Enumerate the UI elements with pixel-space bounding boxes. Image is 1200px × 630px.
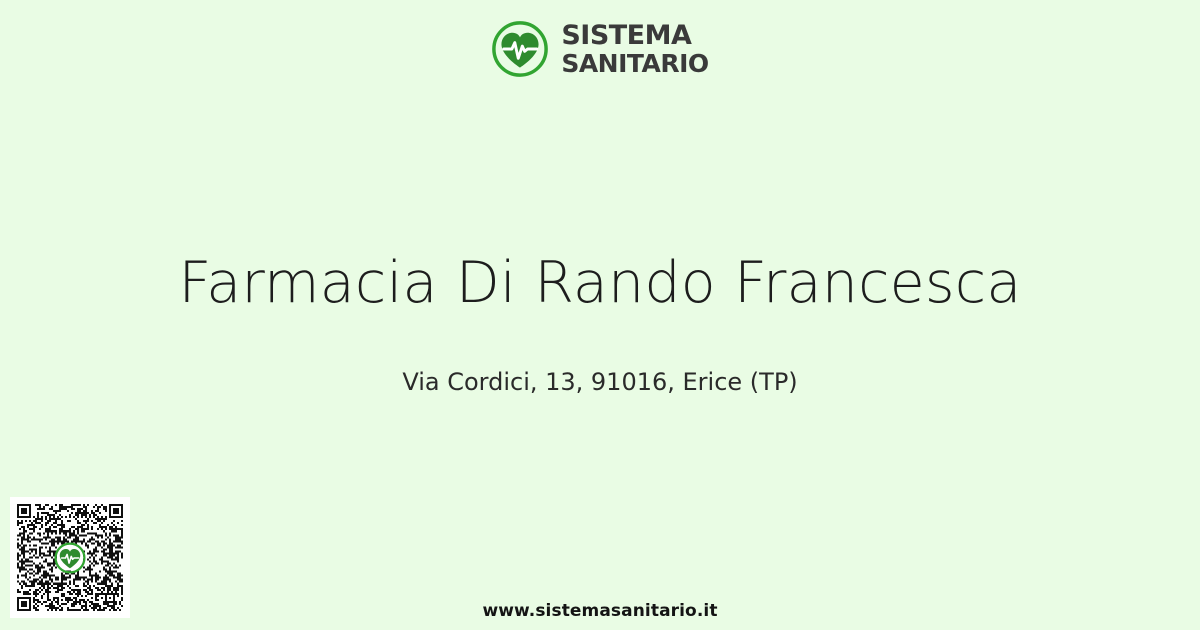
share-card: SISTEMA SANITARIO Farmacia Di Rando Fran… (0, 0, 1200, 630)
brand-wordmark-line-2: SANITARIO (561, 50, 708, 77)
page-title: Farmacia Di Rando Francesca (0, 248, 1200, 318)
brand-wordmark: SISTEMA SANITARIO (561, 22, 708, 77)
footer: www.sistemasanitario.it (0, 600, 1200, 622)
brand-lockup: SISTEMA SANITARIO (0, 20, 1200, 78)
heart-pulse-circle-icon (491, 20, 549, 78)
footer-website-url: www.sistemasanitario.it (482, 601, 717, 621)
brand-wordmark-line-1: SISTEMA (561, 22, 708, 50)
qr-center-heart-pulse-circle-icon (54, 542, 86, 574)
qr-code-wrapper (17, 504, 123, 611)
main-content: Farmacia Di Rando Francesca Via Cordici,… (0, 248, 1200, 398)
address-line: Via Cordici, 13, 91016, Erice (TP) (0, 366, 1200, 398)
